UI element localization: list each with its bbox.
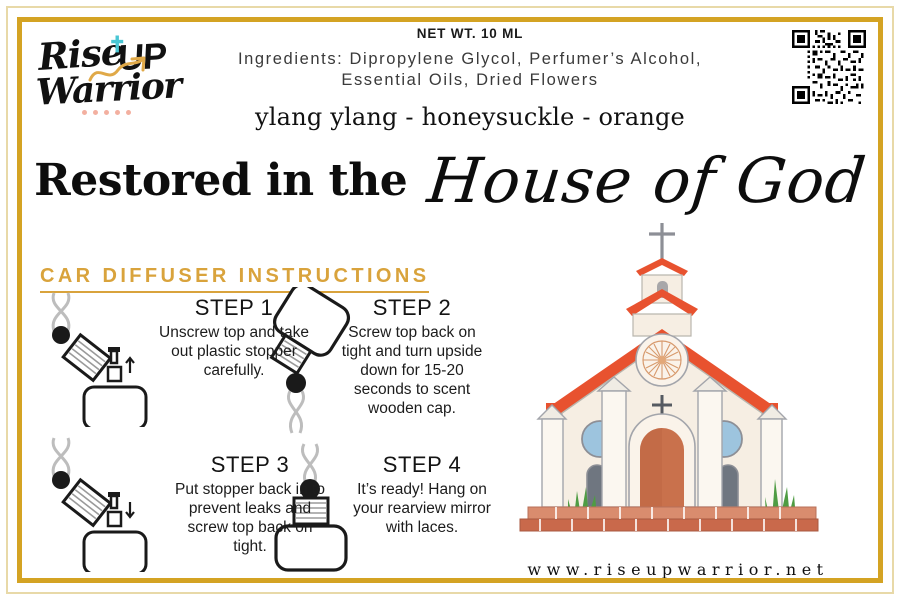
title-script-part: House of God: [424, 144, 870, 217]
ingredients-line-1: Ingredients: Dipropylene Glycol, Perfume…: [190, 49, 750, 70]
ingredients-line-2: Essential Oils, Dried Flowers: [190, 70, 750, 91]
step-2-title: STEP 2: [332, 295, 492, 321]
step-4-title: STEP 4: [342, 452, 502, 478]
qr-code[interactable]: [792, 30, 866, 104]
header-text-block: NET WT. 10 ML Ingredients: Dipropylene G…: [190, 22, 750, 131]
label-content-area: Rise ✝ UP Warrior NET WT. 10 ML Ingredie…: [22, 22, 878, 578]
brand-logo: Rise ✝ UP Warrior: [34, 30, 184, 128]
scent-notes-text: ylang ylang - honeysuckle - orange: [190, 103, 750, 131]
brick-foundation: [520, 507, 818, 531]
step-3-body: Put stopper back in to prevent leaks and…: [170, 481, 330, 557]
step-1-title: STEP 1: [154, 295, 314, 321]
step-4-body: It’s ready! Hang on your rearview mirror…: [342, 481, 502, 538]
page-title: Restored in the House of God: [22, 144, 878, 217]
website-url[interactable]: www.riseupwarrior.net: [478, 560, 878, 578]
diffuser-illustration-step-1: [34, 287, 154, 432]
step-3-title: STEP 3: [170, 452, 330, 478]
step-1-body: Unscrew top and take out plastic stopper…: [154, 324, 314, 381]
step-4: STEP 4 It’s ready! Hang on your rearview…: [342, 452, 502, 538]
step-1: STEP 1 Unscrew top and take out plastic …: [154, 295, 314, 381]
product-label: Rise ✝ UP Warrior NET WT. 10 ML Ingredie…: [0, 0, 900, 600]
title-serif-part: Restored in the: [34, 155, 407, 206]
logo-warrior-text: Warrior: [35, 64, 182, 114]
step-2: STEP 2 Screw top back on tight and turn …: [332, 295, 492, 419]
net-weight-text: NET WT. 10 ML: [190, 26, 750, 41]
logo-dots-decoration: [82, 110, 131, 115]
church-illustration: [502, 217, 842, 552]
ingredients-text: Ingredients: Dipropylene Glycol, Perfume…: [190, 49, 750, 91]
step-2-body: Screw top back on tight and turn upside …: [332, 324, 492, 419]
steeple-cross-icon: [649, 223, 675, 261]
step-3: STEP 3 Put stopper back in to prevent le…: [170, 452, 330, 557]
diffuser-illustration-step-3: [34, 432, 154, 577]
